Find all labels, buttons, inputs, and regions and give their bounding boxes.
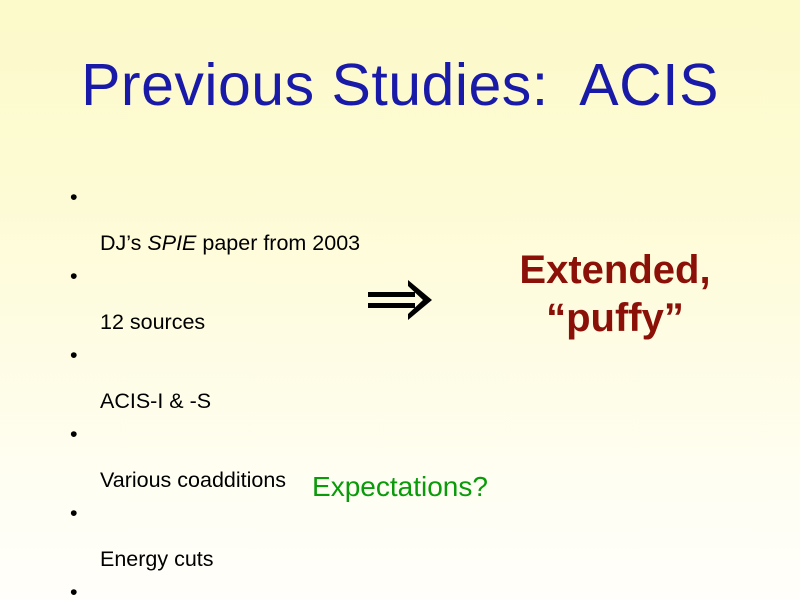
- list-item-label: Energy cuts: [100, 547, 214, 571]
- question-text: Expectations?: [200, 471, 600, 503]
- list-item-label: ACIS-I & -S: [100, 389, 211, 413]
- list-item-acis-i-s: • ACIS-I & -S: [66, 344, 366, 413]
- page-title: Previous Studies: ACIS: [0, 55, 800, 117]
- conclusion-text: Extended, “puffy”: [470, 246, 760, 342]
- double-right-arrow-glyph: [366, 272, 436, 328]
- slide-canvas: Previous Studies: ACIS • DJ’s SPIE paper…: [0, 0, 800, 600]
- conclusion-line-2: “puffy”: [470, 294, 760, 342]
- bullet-marker-icon: •: [70, 502, 78, 525]
- list-item-suffix: paper from 2003: [196, 231, 360, 255]
- bullet-marker-icon: •: [70, 423, 78, 446]
- bullet-marker-icon: •: [70, 344, 78, 367]
- list-item-label: 12 sources: [100, 310, 205, 334]
- list-item-prefix: DJ’s: [100, 231, 147, 255]
- list-item-spie-paper: • DJ’s SPIE paper from 2003: [66, 186, 366, 255]
- list-item-label: DJ’s SPIE paper from 2003: [100, 231, 360, 255]
- list-item-sources: • 12 sources: [66, 265, 366, 334]
- bullet-marker-icon: •: [70, 186, 78, 209]
- bullet-list: • DJ’s SPIE paper from 2003 • 12 sources…: [66, 186, 366, 600]
- double-right-arrow-icon: [366, 272, 436, 328]
- list-item-comparison: • Comparison with HRC-I AR Lac: [66, 581, 366, 600]
- conclusion-line-1: Extended,: [470, 246, 760, 294]
- bullet-marker-icon: •: [70, 265, 78, 288]
- list-item-emphasis: SPIE: [147, 231, 196, 255]
- bullet-marker-icon: •: [70, 581, 78, 600]
- list-item-energy-cuts: • Energy cuts: [66, 502, 366, 571]
